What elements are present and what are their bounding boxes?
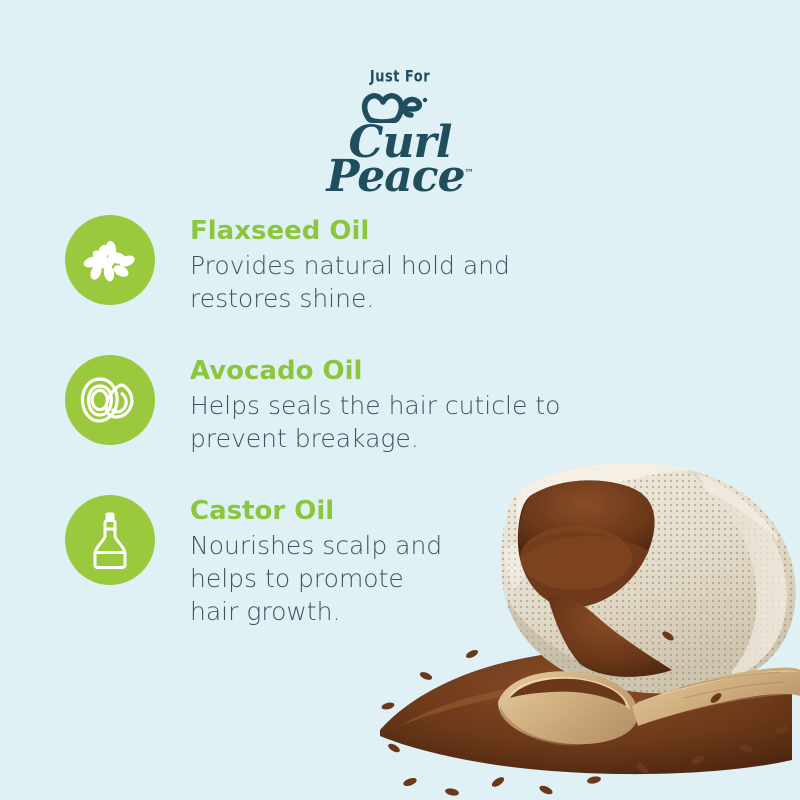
benefit-icon-badge [65, 355, 155, 445]
benefit-title: Avocado Oil [190, 357, 660, 387]
benefit-title: Flaxseed Oil [190, 217, 660, 247]
seeds-in-scoop [510, 679, 626, 706]
scattered-seeds [381, 630, 790, 797]
benefit-icon-badge [65, 215, 155, 305]
benefit-text: Flaxseed Oil Provides natural hold and r… [190, 217, 660, 315]
benefit-text: Avocado Oil Helps seals the hair cuticle… [190, 357, 660, 455]
benefit-description-line: Helps seals the hair cuticle to [190, 389, 660, 422]
logo-me-heart [0, 89, 800, 123]
benefit-description-line: prevent breakage. [190, 422, 660, 455]
logo-brand-peace-text: Peace [326, 151, 464, 202]
logo-trademark: ™ [465, 168, 474, 178]
benefit-description: Provides natural hold and restores shine… [190, 249, 660, 315]
benefit-description-line: Nourishes scalp and [190, 529, 660, 562]
logo-tagline: Just For [0, 69, 800, 85]
benefit-text: Castor Oil Nourishes scalp and helps to … [190, 497, 660, 628]
benefit-description: Nourishes scalp and helps to promote hai… [190, 529, 660, 628]
avocado-icon [65, 355, 155, 445]
benefit-title: Castor Oil [190, 497, 660, 527]
seed-pile [380, 648, 792, 774]
flaxseed-icon [65, 215, 155, 305]
benefit-description-line: hair growth. [190, 595, 660, 628]
benefit-description-line: helps to promote [190, 562, 660, 595]
ingredient-benefits-poster: Just For Curl Peace™ [0, 0, 800, 800]
benefit-description-line: Provides natural hold and [190, 249, 660, 282]
wooden-scoop [498, 668, 800, 746]
benefit-description: Helps seals the hair cuticle to prevent … [190, 389, 660, 455]
logo-brand-peace: Peace™ [0, 155, 800, 199]
benefit-icon-badge [65, 495, 155, 585]
oil-bottle-icon [65, 495, 155, 585]
heart-me-icon [361, 89, 439, 123]
brand-logo: Just For Curl Peace™ [0, 72, 800, 199]
benefit-description-line: restores shine. [190, 282, 660, 315]
